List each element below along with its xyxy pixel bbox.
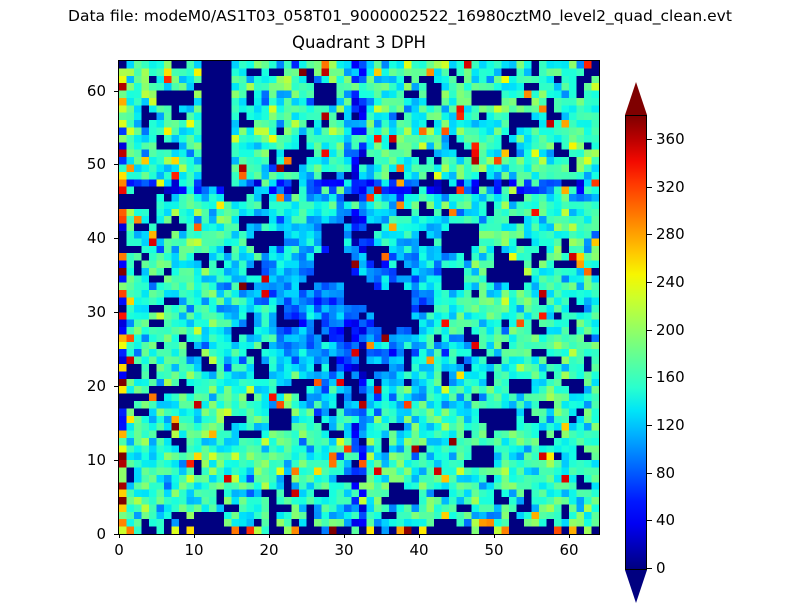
y-tick-label: 10 xyxy=(46,452,106,468)
y-tick-label: 40 xyxy=(46,230,106,246)
colorbar-tick-mark xyxy=(647,187,652,188)
y-tick-mark xyxy=(114,312,118,313)
x-tick-label: 20 xyxy=(239,542,299,558)
colorbar-tick-mark xyxy=(647,377,652,378)
y-tick-mark xyxy=(114,164,118,165)
y-tick-mark xyxy=(114,238,118,239)
x-tick-label: 40 xyxy=(389,542,449,558)
x-tick-mark xyxy=(569,534,570,538)
colorbar-tick-mark xyxy=(647,234,652,235)
x-tick-mark xyxy=(344,534,345,538)
x-tick-mark xyxy=(419,534,420,538)
colorbar-tick-label: 40 xyxy=(656,512,675,528)
y-tick-mark xyxy=(114,91,118,92)
y-tick-label: 60 xyxy=(46,83,106,99)
y-tick-mark xyxy=(114,534,118,535)
detector-heatmap-image[interactable] xyxy=(119,61,599,534)
y-tick-label: 30 xyxy=(46,304,106,320)
plot-title: Quadrant 3 DPH xyxy=(118,33,600,53)
y-tick-label: 0 xyxy=(46,526,106,542)
y-tick-label: 20 xyxy=(46,378,106,394)
x-tick-mark xyxy=(119,534,120,538)
colorbar-tick-label: 0 xyxy=(656,560,666,576)
y-tick-mark xyxy=(114,386,118,387)
x-tick-label: 50 xyxy=(464,542,524,558)
y-tick-label: 50 xyxy=(46,156,106,172)
colorbar-tick-label: 280 xyxy=(656,226,685,242)
figure-canvas: Data file: modeM0/AS1T03_058T01_90000025… xyxy=(0,0,800,600)
x-tick-mark xyxy=(269,534,270,538)
colorbar-tick-mark xyxy=(647,425,652,426)
colorbar-tick-label: 200 xyxy=(656,322,685,338)
colorbar-tick-mark xyxy=(647,520,652,521)
colorbar-gradient xyxy=(626,116,646,569)
colorbar-tick-mark xyxy=(647,282,652,283)
colorbar[interactable]: 04080120160200240280320360 xyxy=(625,60,647,535)
x-tick-label: 0 xyxy=(89,542,149,558)
colorbar-tick-label: 80 xyxy=(656,465,675,481)
colorbar-under-arrow-icon xyxy=(625,570,647,603)
colorbar-tick-mark xyxy=(647,139,652,140)
x-tick-label: 10 xyxy=(164,542,224,558)
colorbar-tick-mark xyxy=(647,330,652,331)
colorbar-tick-label: 160 xyxy=(656,369,685,385)
colorbar-tick-label: 120 xyxy=(656,417,685,433)
data-file-label: Data file: modeM0/AS1T03_058T01_90000025… xyxy=(0,7,800,25)
colorbar-tick-mark xyxy=(647,568,652,569)
colorbar-tick-label: 240 xyxy=(656,274,685,290)
colorbar-body[interactable] xyxy=(625,115,647,570)
x-tick-label: 60 xyxy=(539,542,599,558)
x-tick-label: 30 xyxy=(314,542,374,558)
x-tick-mark xyxy=(194,534,195,538)
x-tick-mark xyxy=(494,534,495,538)
colorbar-tick-label: 320 xyxy=(656,179,685,195)
colorbar-tick-label: 360 xyxy=(656,131,685,147)
y-tick-mark xyxy=(114,460,118,461)
colorbar-tick-mark xyxy=(647,473,652,474)
heatmap-axes[interactable] xyxy=(118,60,600,535)
colorbar-over-arrow-icon xyxy=(625,82,647,115)
